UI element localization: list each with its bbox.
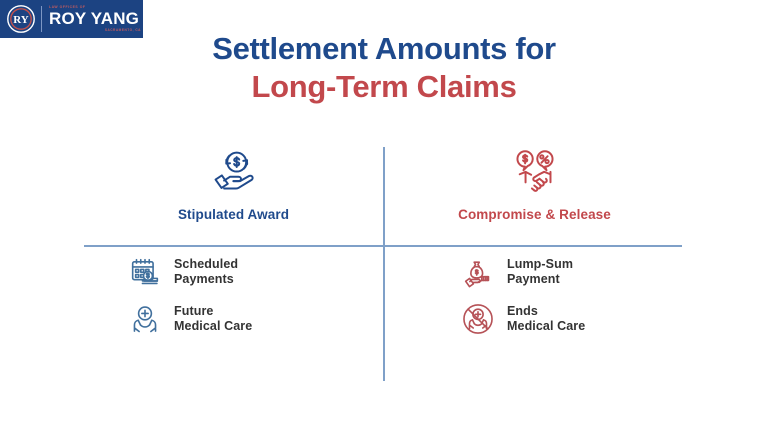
list-item: Scheduled Payments bbox=[128, 255, 383, 289]
hand-holding-recurring-dollar-icon bbox=[207, 145, 261, 199]
list-item-label: Lump-Sum Payment bbox=[507, 257, 573, 287]
feature-group-stipulated-award: Scheduled Payments Future Medical Care bbox=[84, 255, 383, 381]
calendar-money-icon bbox=[128, 255, 162, 289]
feature-group-compromise-and-release: Lump-Sum Payment Ends Medical Care bbox=[385, 255, 684, 381]
title-line-2: Long-Term Claims bbox=[0, 68, 768, 106]
column-header-compromise-and-release: Compromise & Release bbox=[385, 145, 684, 245]
list-item-label: Scheduled Payments bbox=[174, 257, 238, 287]
handshake-dollar-percent-icon bbox=[508, 145, 562, 199]
hand-money-bag-icon bbox=[461, 255, 495, 289]
list-item: Lump-Sum Payment bbox=[461, 255, 684, 289]
logo-separator bbox=[41, 6, 42, 32]
logo-text-block: LAW OFFICES OF ROY YANG SACRAMENTO, CA bbox=[49, 6, 143, 33]
hands-medical-cross-icon bbox=[128, 302, 162, 336]
column-header-stipulated-award: Stipulated Award bbox=[84, 145, 383, 245]
column-heading-label: Compromise & Release bbox=[458, 207, 611, 222]
list-item: Future Medical Care bbox=[128, 302, 383, 336]
title-line-1: Settlement Amounts for bbox=[0, 30, 768, 68]
no-medical-care-icon bbox=[461, 302, 495, 336]
list-item-label: Future Medical Care bbox=[174, 304, 252, 334]
page-title: Settlement Amounts for Long-Term Claims bbox=[0, 30, 768, 106]
feature-list: Lump-Sum Payment Ends Medical Care bbox=[385, 255, 684, 336]
svg-text:RY: RY bbox=[13, 14, 29, 26]
feature-list: Scheduled Payments Future Medical Care bbox=[84, 255, 383, 336]
list-item: Ends Medical Care bbox=[461, 302, 684, 336]
logo-firm-name: ROY YANG bbox=[49, 10, 143, 27]
list-item-label: Ends Medical Care bbox=[507, 304, 585, 334]
column-heading-label: Stipulated Award bbox=[178, 207, 289, 222]
